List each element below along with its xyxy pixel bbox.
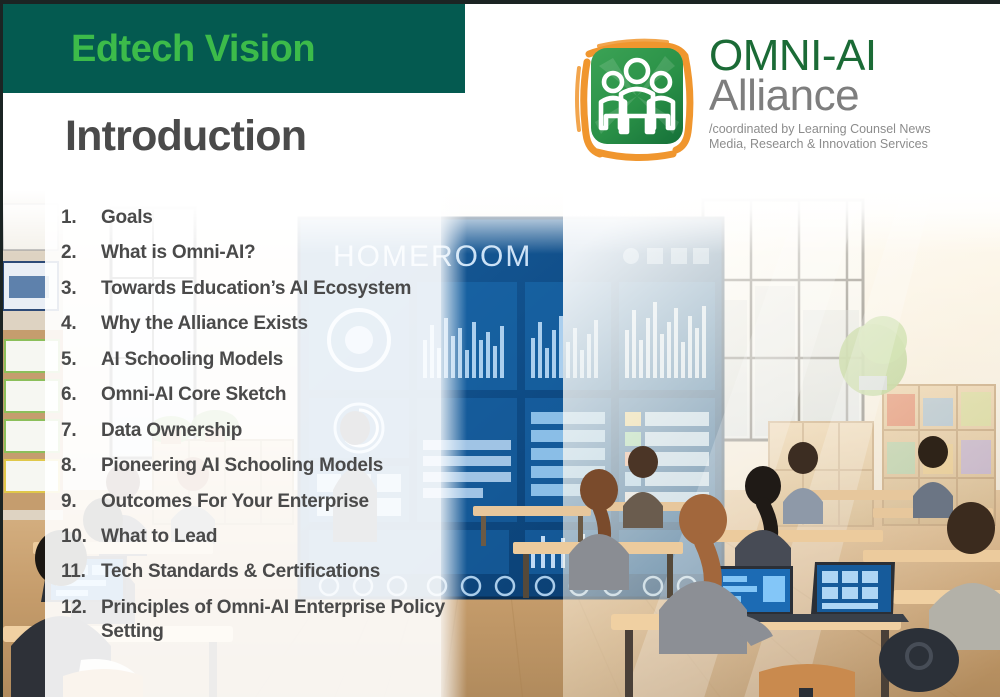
slide-kicker-title: Edtech Vision <box>71 30 315 68</box>
logo-tagline: /coordinated by Learning Counsel News Me… <box>709 122 969 152</box>
list-item-number: 6. <box>61 383 101 407</box>
list-item[interactable]: 11. Tech Standards & Certifications <box>61 560 461 584</box>
list-item-label: Why the Alliance Exists <box>101 312 461 336</box>
list-item-number: 3. <box>61 277 101 301</box>
list-item-label: Pioneering AI Schooling Models <box>101 454 461 478</box>
list-item-number: 10. <box>61 525 101 549</box>
three-people-in-rounded-square-icon <box>569 26 701 166</box>
page-title: Introduction <box>65 112 306 161</box>
list-item[interactable]: 5. AI Schooling Models <box>61 348 461 372</box>
list-item-number: 2. <box>61 241 101 265</box>
list-item-label: Omni-AI Core Sketch <box>101 383 461 407</box>
list-item[interactable]: 12. Principles of Omni-AI Enterprise Pol… <box>61 596 461 644</box>
agenda-list: 1. Goals 2. What is Omni-AI? 3. Towards … <box>61 206 461 655</box>
list-item-label: What to Lead <box>101 525 461 549</box>
list-item[interactable]: 10. What to Lead <box>61 525 461 549</box>
list-item-number: 7. <box>61 419 101 443</box>
list-item[interactable]: 1. Goals <box>61 206 461 230</box>
logo-name-secondary: Alliance <box>709 74 969 118</box>
omni-ai-alliance-logo: OMNI-AI Alliance /coordinated by Learnin… <box>569 26 989 181</box>
list-item-number: 11. <box>61 560 101 584</box>
list-item-label: What is Omni-AI? <box>101 241 461 265</box>
list-item-number: 5. <box>61 348 101 372</box>
list-item-label: Principles of Omni-AI Enterprise Policy … <box>101 596 461 644</box>
list-item[interactable]: 7. Data Ownership <box>61 419 461 443</box>
list-item-label: Data Ownership <box>101 419 461 443</box>
title-band: Edtech Vision <box>3 4 465 93</box>
logo-wordmark: OMNI-AI Alliance /coordinated by Learnin… <box>709 26 969 152</box>
list-item-number: 12. <box>61 596 101 620</box>
list-item[interactable]: 8. Pioneering AI Schooling Models <box>61 454 461 478</box>
list-item-number: 9. <box>61 490 101 514</box>
list-item-label: AI Schooling Models <box>101 348 461 372</box>
list-item[interactable]: 2. What is Omni-AI? <box>61 241 461 265</box>
list-item-number: 1. <box>61 206 101 230</box>
slide: HOMEROOM <box>0 0 1000 697</box>
list-item[interactable]: 9. Outcomes For Your Enterprise <box>61 490 461 514</box>
list-item-label: Goals <box>101 206 461 230</box>
list-item[interactable]: 6. Omni-AI Core Sketch <box>61 383 461 407</box>
list-item-label: Towards Education’s AI Ecosystem <box>101 277 461 301</box>
list-item-number: 8. <box>61 454 101 478</box>
list-item[interactable]: 3. Towards Education’s AI Ecosystem <box>61 277 461 301</box>
list-item-label: Tech Standards & Certifications <box>101 560 461 584</box>
list-item-label: Outcomes For Your Enterprise <box>101 490 461 514</box>
list-item-number: 4. <box>61 312 101 336</box>
list-item[interactable]: 4. Why the Alliance Exists <box>61 312 461 336</box>
